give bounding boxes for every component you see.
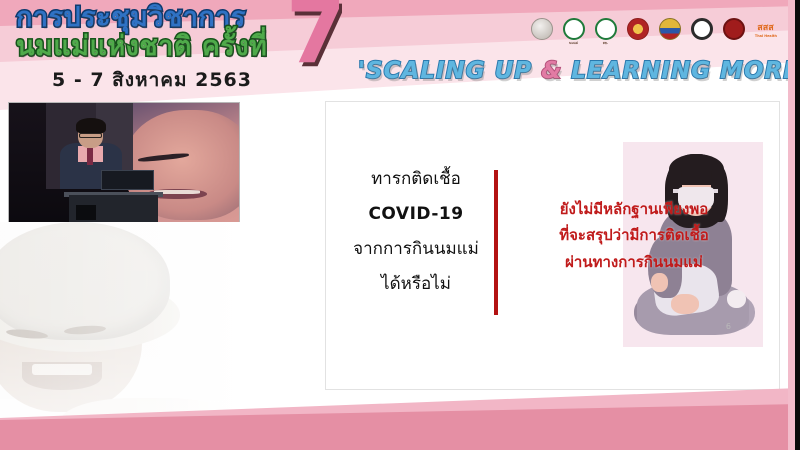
answer-line: ที่จะสรุปว่ามีการติดเชื้อ — [508, 222, 760, 248]
right-edge — [795, 0, 800, 450]
baby-background-photo — [0, 222, 272, 422]
answer-line: ยังไม่มีหลักฐานเพียงพอ — [508, 196, 760, 222]
organization-logo — [529, 18, 554, 43]
conference-tagline: 'SCALING UP & LEARNING MORE' — [358, 58, 800, 84]
vertical-divider — [494, 170, 498, 315]
conference-title-line2: นมแม่แห่งชาติ ครั้งที่ — [16, 33, 306, 60]
edition-number: 7 — [286, 0, 346, 76]
tagline-part-2: LEARNING MORE' — [562, 58, 800, 84]
speaker-tie — [87, 148, 93, 165]
question-line: จากการกินนมแม่ — [336, 232, 496, 267]
organization-logo — [689, 18, 714, 43]
mother-foot — [727, 290, 747, 308]
content-card: ทารกติดเชื้อ COVID-19 จากการกินนมแม่ ได้… — [325, 101, 780, 390]
mother-hand-supporting — [651, 273, 668, 291]
conference-title-line1: การประชุมวิชาการ — [16, 4, 306, 31]
mother-eye-right — [701, 181, 709, 184]
logo-caption: นมแม่ — [563, 41, 584, 45]
organization-logo: นมแม่ — [561, 18, 586, 43]
organization-logo — [657, 18, 682, 43]
question-line: COVID-19 — [336, 197, 496, 232]
question-line: ทารกติดเชื้อ — [336, 162, 496, 197]
conference-title-block: การประชุมวิชาการ นมแม่แห่งชาติ ครั้งที่ … — [16, 4, 306, 95]
slide-stage: การประชุมวิชาการ นมแม่แห่งชาติ ครั้งที่ … — [0, 0, 800, 450]
podium-laptop — [101, 170, 154, 190]
question-text: ทารกติดเชื้อ COVID-19 จากการกินนมแม่ ได้… — [336, 162, 496, 301]
mother-hand — [671, 294, 699, 315]
speaker-hair — [76, 118, 106, 133]
organization-logo: สธ. — [593, 18, 618, 43]
organization-logo — [721, 18, 746, 43]
organization-logo — [625, 18, 650, 43]
speaker-glasses — [79, 133, 102, 138]
logo-caption: สธ. — [595, 41, 616, 45]
slide-number: 6 — [726, 322, 731, 331]
photo-fade-vertical — [0, 222, 272, 422]
answer-text: ยังไม่มีหลักฐานเพียงพอ ที่จะสรุปว่ามีการ… — [508, 196, 760, 275]
tagline-part-1: 'SCALING UP — [358, 58, 541, 84]
podium-shadow — [76, 205, 97, 219]
question-line: ได้หรือไม่ — [336, 267, 496, 302]
logo-caption: Thai Health — [755, 34, 776, 38]
presenter-video-thumbnail[interactable] — [8, 102, 240, 223]
thaihealth-sss-logo: สสส Thai Health — [753, 18, 778, 43]
sponsor-logos: นมแม่ สธ. สสส Thai Health — [529, 18, 778, 43]
conference-date: 5 - 7 สิงหาคม 2563 — [16, 65, 306, 95]
answer-line: ผ่านทางการกินนมแม่ — [508, 249, 760, 275]
tagline-ampersand: & — [541, 58, 562, 84]
